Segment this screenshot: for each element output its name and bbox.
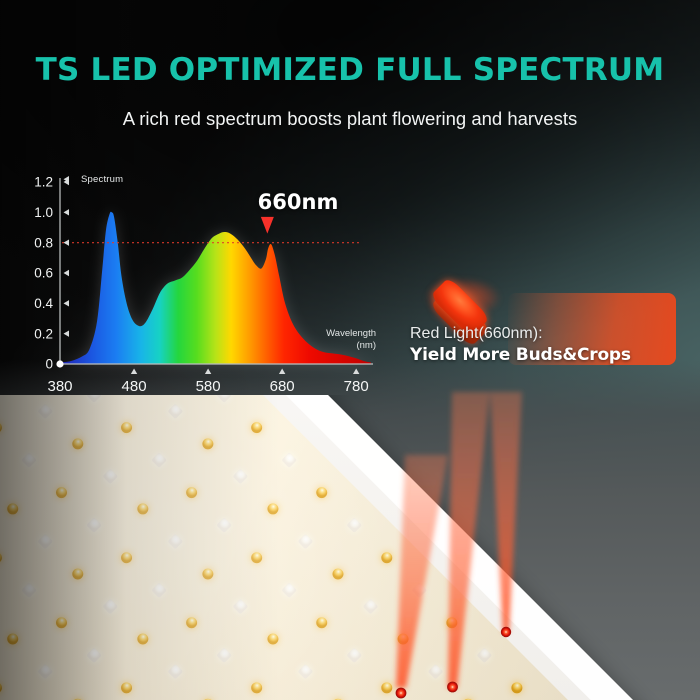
y-tick-label: 0.4 (34, 296, 53, 311)
spectrum-chart: 00.20.40.60.81.01.2380480580680780 Spect… (26, 168, 386, 413)
x-axis-label: Wavelength (nm) (278, 328, 376, 351)
y-tick-label: 1.2 (34, 175, 53, 190)
annotation-660nm-label: 660nm (233, 190, 363, 214)
up-triangle-icon (131, 369, 137, 375)
up-triangle-icon (279, 369, 285, 375)
left-triangle-icon (64, 270, 70, 276)
callout-line-1: Red Light(660nm): (410, 325, 676, 343)
y-tick-label: 0.6 (34, 266, 53, 281)
left-triangle-icon (64, 300, 70, 306)
x-tick-label: 780 (344, 378, 369, 395)
x-tick-label: 380 (47, 378, 72, 395)
left-triangle-icon (64, 239, 70, 245)
up-triangle-icon (353, 369, 359, 375)
page-subtitle: A rich red spectrum boosts plant floweri… (0, 108, 700, 130)
red-light-callout: Red Light(660nm): Yield More Buds&Crops (404, 268, 676, 388)
y-tick-label: 0 (45, 357, 53, 372)
down-triangle-icon (261, 217, 274, 234)
infographic-stage: TS LED OPTIMIZED FULL SPECTRUM A rich re… (0, 0, 700, 700)
page-title: TS LED OPTIMIZED FULL SPECTRUM (0, 52, 700, 88)
x-tick-label: 480 (122, 378, 147, 395)
left-triangle-icon (64, 330, 70, 336)
y-axis-label: Spectrum (81, 174, 123, 185)
x-tick-label: 680 (270, 378, 295, 395)
y-tick-label: 0.8 (34, 235, 53, 250)
x-tick-label: 580 (196, 378, 221, 395)
left-triangle-icon (64, 209, 70, 215)
callout-line-2: Yield More Buds&Crops (410, 345, 676, 365)
x-axis-label-text: Wavelength (326, 328, 376, 339)
x-axis-label-unit: (nm) (356, 340, 376, 351)
y-tick-label: 1.0 (34, 205, 53, 220)
up-triangle-icon (205, 369, 211, 375)
y-tick-label: 0.2 (34, 326, 53, 341)
